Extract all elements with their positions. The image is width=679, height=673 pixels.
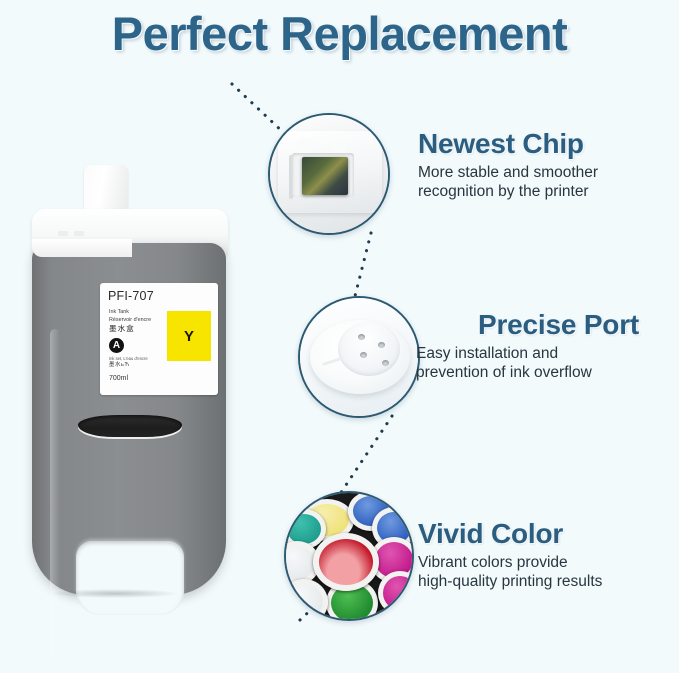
port-icon — [300, 298, 418, 416]
label-badge-sub-cjk: 墨水ьЋ — [109, 362, 175, 368]
feature-text-vivid-color: Vivid Color Vibrant colors provide high-… — [418, 518, 602, 591]
page-title: Perfect Replacement — [0, 6, 679, 61]
desc-line-2: prevention of ink overflow — [416, 364, 592, 381]
feature-image-precise-port — [298, 296, 420, 418]
feature-heading-newest-chip: Newest Chip — [418, 128, 598, 160]
connector-port-to-color — [340, 416, 392, 494]
feature-text-newest-chip: Newest Chip More stable and smoother rec… — [418, 128, 598, 201]
cap-vent-icon — [74, 231, 84, 236]
label-color-swatch: Y — [167, 311, 211, 361]
paint-can — [378, 571, 414, 615]
desc-line-1: More stable and smoother — [418, 164, 598, 181]
paint-can-primary — [313, 533, 379, 591]
ink-cartridge: Ink Tank PFI-707 Ink Tank Réservoir d'en… — [18, 165, 228, 595]
feature-image-newest-chip — [268, 113, 390, 235]
port-hole — [378, 342, 385, 348]
feature-image-vivid-color — [284, 491, 414, 621]
feature-heading-precise-port: Precise Port — [478, 309, 639, 341]
feature-description-vivid-color: Vibrant colors provide high-quality prin… — [418, 553, 602, 591]
desc-line-2: recognition by the printer — [418, 183, 589, 200]
feature-heading-vivid-color: Vivid Color — [418, 518, 602, 550]
cap-body-notch — [32, 239, 132, 257]
paint-can-ink — [383, 576, 414, 610]
feature-description-precise-port: Easy installation and prevention of ink … — [416, 344, 639, 382]
port-hole — [382, 360, 389, 366]
cartridge-handle-hole — [76, 541, 184, 615]
cap-vent-icon — [58, 231, 68, 236]
cartridge-label: Ink Tank PFI-707 Ink Tank Réservoir d'en… — [100, 283, 218, 395]
label-badge-subtext: Ink set, L'eau d'encre 墨水ьЋ — [109, 356, 175, 369]
label-ink-tank-cjk: 墨水盒 — [109, 324, 171, 334]
feature-text-precise-port: Precise Port Easy installation and preve… — [478, 309, 639, 382]
port-hole — [358, 334, 365, 340]
port-hub — [338, 322, 400, 376]
cartridge-body: Ink Tank PFI-707 Ink Tank Réservoir d'en… — [32, 243, 226, 595]
paint-can-ink — [285, 584, 323, 620]
label-volume: 700ml — [109, 375, 128, 382]
body-highlight — [50, 329, 60, 659]
paint-can-ink — [319, 539, 373, 585]
desc-line-1: Vibrant colors provide — [418, 554, 568, 571]
chip-icon — [270, 115, 388, 233]
desc-line-1: Easy installation and — [416, 345, 558, 362]
label-ink-tank-en: Ink Tank — [109, 308, 171, 316]
label-a-badge-icon: A — [109, 338, 124, 353]
paint-can-ink — [287, 514, 321, 544]
cartridge-drop-shadow — [52, 589, 178, 598]
feature-description-newest-chip: More stable and smoother recognition by … — [418, 163, 598, 201]
paint-can — [284, 579, 328, 621]
label-description: Ink Tank Réservoir d'encre 墨水盒 — [109, 308, 171, 334]
infographic-canvas: Perfect Replacement Ink Tank PFI-707 Ink… — [0, 0, 679, 673]
cartridge-grip-slot — [78, 415, 182, 437]
paint-cans-icon — [286, 493, 412, 619]
connector-chip-to-port — [355, 233, 371, 296]
label-model-number: PFI-707 — [108, 289, 154, 303]
port-hole — [360, 352, 367, 358]
desc-line-2: high-quality printing results — [418, 573, 602, 590]
chip-die — [302, 157, 348, 195]
